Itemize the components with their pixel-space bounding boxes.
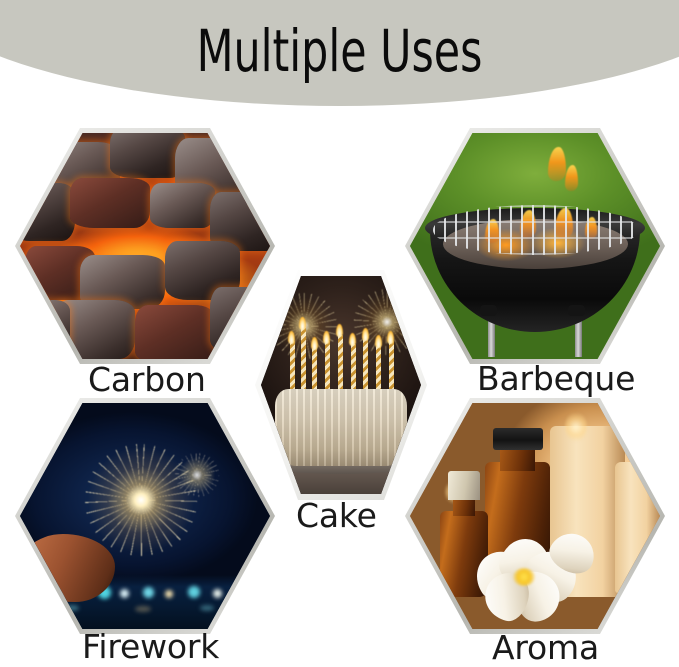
aroma-oils-image: [410, 403, 660, 629]
candle-small: [615, 462, 660, 593]
tile-label-cake: Cake: [296, 498, 377, 534]
tile-label-firework: Firework: [82, 629, 219, 665]
sparkler-burst-distant: [175, 453, 219, 497]
tile-label-aroma: Aroma: [492, 630, 599, 666]
charcoal-embers-image: [20, 133, 270, 359]
hex-image-firework: [20, 403, 270, 629]
bottle-cap-large: [493, 428, 543, 451]
tile-cake[interactable]: [255, 270, 427, 500]
firework-sparkler-image: [20, 403, 270, 629]
tile-aroma[interactable]: [405, 398, 665, 634]
hex-image-carbon: [20, 133, 270, 359]
tile-carbon[interactable]: [15, 128, 275, 364]
tile-label-carbon: Carbon: [88, 362, 206, 398]
flower-center: [513, 568, 535, 586]
hex-image-aroma: [410, 403, 660, 629]
tile-firework[interactable]: [15, 398, 275, 634]
hex-image-barbeque: [410, 133, 660, 359]
tile-barbeque[interactable]: [405, 128, 665, 364]
page-title: Multiple Uses: [61, 20, 618, 82]
cake: [275, 389, 406, 465]
barbeque-grill-image: [410, 133, 660, 359]
dropper-cap: [448, 471, 481, 500]
tile-label-barbeque: Barbeque: [477, 361, 635, 397]
